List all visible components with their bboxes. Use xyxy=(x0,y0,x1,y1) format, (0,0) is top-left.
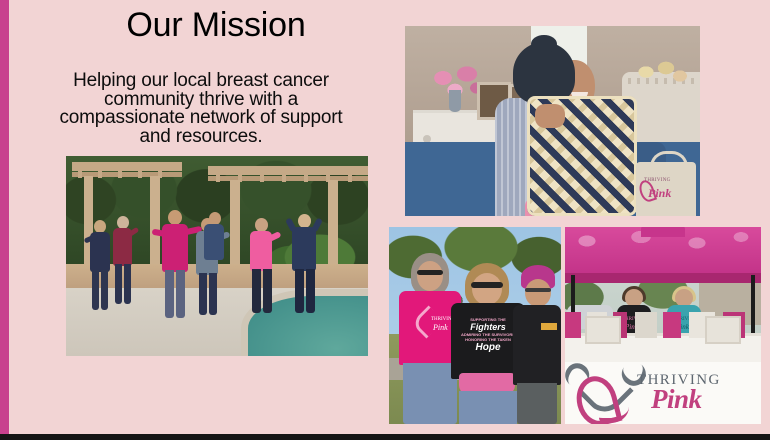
tote-brand-line-1: THRIVING xyxy=(644,178,671,183)
walk-participant-headwrap xyxy=(513,265,561,424)
ribbon-tail-icon xyxy=(599,396,629,423)
quilt-hug-photo: THRIVING Pink xyxy=(405,26,700,216)
exercise-participant-front xyxy=(154,210,196,322)
mission-line-1: Helping our local breast cancer xyxy=(36,72,366,91)
photo-head-wrap xyxy=(513,42,575,104)
tote-handle xyxy=(650,151,688,170)
mission-statement-text: Helping our local breast cancer communit… xyxy=(36,72,366,146)
photo-jeans xyxy=(403,363,457,424)
photo-vase xyxy=(449,90,461,112)
pink-canopy-tent xyxy=(565,227,761,283)
booth-table: THRIVING Pink xyxy=(565,333,761,424)
exercise-participant xyxy=(110,216,136,310)
canopy-peak xyxy=(641,227,685,237)
exercise-participant xyxy=(200,212,226,282)
eyeglasses-icon xyxy=(525,288,551,292)
banner-word-pink: Pink xyxy=(651,384,702,415)
photo-face xyxy=(417,261,443,291)
mission-line-3: compassionate network of support xyxy=(36,109,366,128)
photo-jeans xyxy=(459,391,517,424)
photo-background-flowers xyxy=(634,58,690,88)
photo-face xyxy=(472,273,502,305)
sunglasses-icon xyxy=(417,270,443,275)
photo-woman-with-quilt xyxy=(489,42,639,216)
photo-black-jacket xyxy=(513,305,561,385)
walk-participants-photo: THRIVING Pink SUPPORTING THE Fighters AD… xyxy=(389,227,561,424)
thriving-pink-tote-bag: THRIVING Pink xyxy=(636,162,696,216)
booth-photo-frame xyxy=(585,316,621,344)
photo-woman-hand xyxy=(535,104,565,128)
exercise-participant xyxy=(288,214,320,316)
thriving-pink-booth-photo: THRIVING Pink THRIVING Pink THRI xyxy=(565,227,761,424)
booth-photo-frame xyxy=(705,316,741,344)
page-title: Our Mission xyxy=(66,4,366,46)
tote-brand-line-2: Pink xyxy=(648,186,671,201)
photo-pants xyxy=(517,383,557,424)
left-accent-bar xyxy=(0,0,9,434)
presentation-slide: Our Mission Helping our local breast can… xyxy=(0,0,770,440)
exercise-class-photo xyxy=(66,156,368,356)
exercise-participant xyxy=(246,218,276,316)
heart-ribbon-logo-icon xyxy=(577,370,629,416)
mission-line-4: and resources. xyxy=(36,128,366,147)
sunglasses-icon xyxy=(471,282,503,288)
thriving-pink-banner: THRIVING Pink xyxy=(565,362,761,424)
bottom-edge-band xyxy=(0,434,770,440)
photo-face xyxy=(525,279,551,307)
